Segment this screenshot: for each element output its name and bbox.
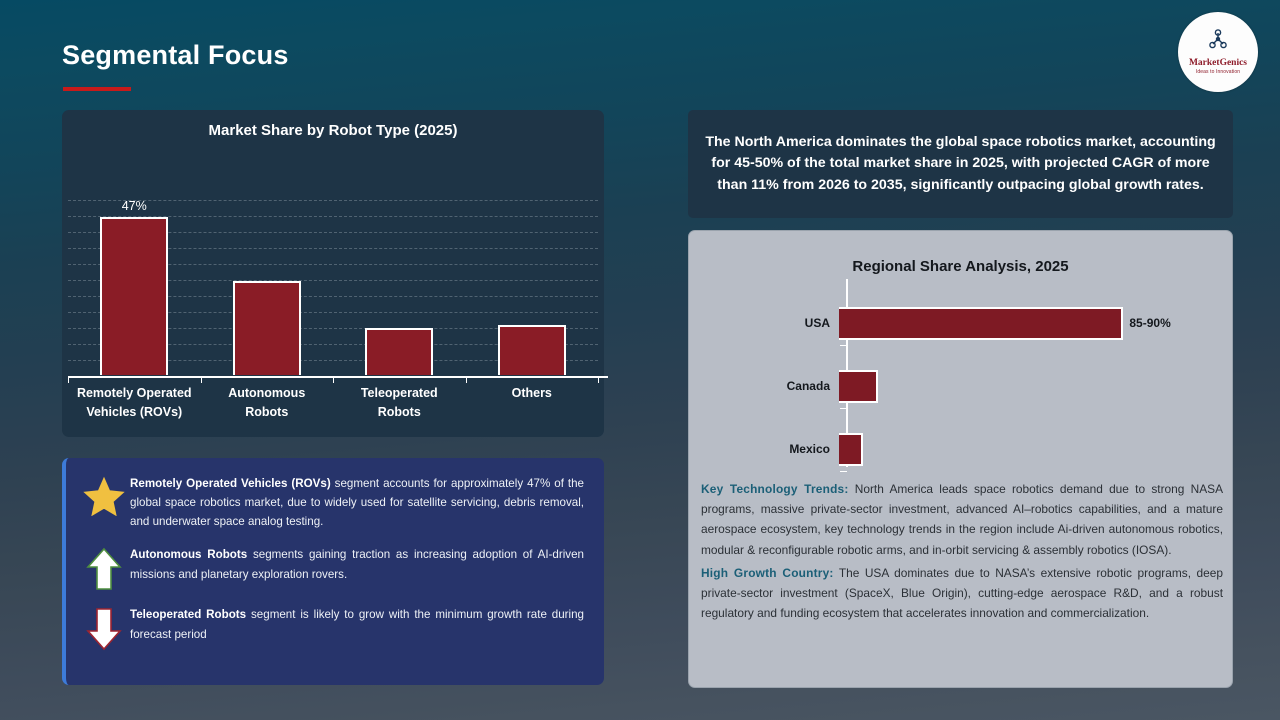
regional-bar-row[interactable]: Canada: [689, 368, 878, 404]
regional-analysis-text: Key Technology Trends: North America lea…: [701, 479, 1223, 627]
star-icon: [78, 474, 130, 516]
bar-column[interactable]: 47%: [68, 200, 201, 375]
logo-brand-name: MarketGenics: [1189, 59, 1247, 69]
bar-column[interactable]: [201, 200, 334, 375]
regional-bar-row[interactable]: USA85-90%: [689, 305, 1171, 341]
axis-tick: [598, 376, 599, 383]
insight-row: Remotely Operated Vehicles (ROVs) segmen…: [78, 474, 594, 531]
regional-bar-label: USA: [689, 316, 839, 330]
paragraph-lead: Key Technology Trends:: [701, 482, 849, 496]
regional-axis-tick: [840, 471, 847, 472]
body-paragraph: Key Technology Trends: North America lea…: [701, 479, 1223, 560]
regional-bar-rect[interactable]: [839, 433, 863, 466]
insight-lead: Teleoperated Robots: [130, 608, 246, 621]
insight-text: Autonomous Robots segments gaining tract…: [130, 545, 594, 583]
arrow-down-icon: [78, 605, 130, 651]
bar-rect[interactable]: [100, 217, 168, 375]
chart-x-axis-ticks: [68, 376, 598, 383]
title-underline-accent: [63, 87, 131, 91]
callout-text: The North America dominates the global s…: [702, 132, 1219, 195]
regional-bar-label: Mexico: [689, 442, 839, 456]
regional-bar-rect[interactable]: [839, 370, 878, 403]
regional-chart-title: Regional Share Analysis, 2025: [689, 258, 1232, 275]
regional-bar-value-label: 85-90%: [1123, 316, 1170, 330]
chart-plot-area: 47%: [68, 200, 598, 375]
insight-lead: Remotely Operated Vehicles (ROVs): [130, 477, 331, 490]
chart-title: Market Share by Robot Type (2025): [62, 122, 604, 139]
insight-text: Remotely Operated Vehicles (ROVs) segmen…: [130, 474, 594, 531]
insight-text: Teleoperated Robots segment is likely to…: [130, 605, 594, 643]
regional-bar-rect[interactable]: [839, 307, 1123, 340]
axis-tick: [68, 376, 69, 383]
bar-value-label: 47%: [122, 199, 147, 213]
chart-category-labels: Remotely OperatedVehicles (ROVs)Autonomo…: [68, 384, 598, 423]
bar-rect[interactable]: [233, 281, 301, 375]
category-label: Others: [466, 384, 599, 423]
category-label: AutonomousRobots: [201, 384, 334, 423]
bar-rect[interactable]: [498, 325, 566, 375]
segment-insights-panel: Remotely Operated Vehicles (ROVs) segmen…: [62, 458, 604, 685]
regional-bar-row[interactable]: Mexico: [689, 431, 863, 467]
regional-axis-tick: [840, 408, 847, 409]
insight-lead: Autonomous Robots: [130, 548, 247, 561]
page-title: Segmental Focus: [62, 40, 289, 71]
paragraph-lead: High Growth Country:: [701, 566, 834, 580]
regional-analysis-panel: Regional Share Analysis, 2025 USA85-90%C…: [688, 230, 1233, 688]
logo-tagline: Ideas to Innovation: [1196, 70, 1240, 75]
arrow-up-icon: [78, 545, 130, 591]
company-logo: MarketGenics Ideas to Innovation: [1178, 12, 1258, 92]
market-share-chart-panel: Market Share by Robot Type (2025) 47% Re…: [62, 110, 604, 437]
axis-tick: [201, 376, 202, 383]
category-label: TeleoperatedRobots: [333, 384, 466, 423]
axis-tick: [333, 376, 334, 383]
regional-bar-label: Canada: [689, 379, 839, 393]
network-nodes-icon: [1205, 29, 1231, 58]
axis-tick: [466, 376, 467, 383]
category-label: Remotely OperatedVehicles (ROVs): [68, 384, 201, 423]
regional-callout-banner: The North America dominates the global s…: [688, 110, 1233, 218]
regional-axis-tick: [840, 345, 847, 346]
regional-chart-plot-area: USA85-90%CanadaMexico: [689, 279, 1234, 467]
bar-rect[interactable]: [365, 328, 433, 375]
insight-row: Teleoperated Robots segment is likely to…: [78, 605, 594, 651]
bar-column[interactable]: [333, 200, 466, 375]
insight-row: Autonomous Robots segments gaining tract…: [78, 545, 594, 591]
chart-bars: 47%: [68, 200, 598, 375]
bar-column[interactable]: [466, 200, 599, 375]
body-paragraph: High Growth Country: The USA dominates d…: [701, 563, 1223, 624]
